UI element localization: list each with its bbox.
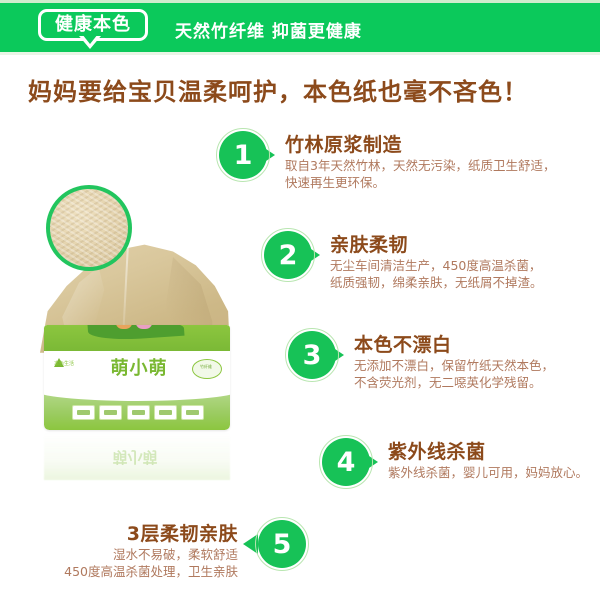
feature-title-1: 竹林原浆制造 bbox=[285, 133, 555, 157]
bubble-circle-1: 1 bbox=[219, 131, 267, 179]
feature-number-4: 4 bbox=[337, 449, 356, 476]
texture-magnifier-icon bbox=[46, 185, 132, 271]
package-icon-1 bbox=[72, 405, 95, 420]
header-underline bbox=[0, 52, 600, 55]
feature-bubble-4: 4 bbox=[322, 438, 370, 486]
page-headline: 妈妈要给宝贝温柔呵护，本色纸也毫不吝色！ bbox=[28, 72, 588, 107]
product-reflection-logo: 萌小萌 bbox=[92, 447, 178, 468]
box-leaf-band bbox=[44, 325, 230, 351]
badge-tail-inner bbox=[82, 34, 98, 44]
package-icon-3 bbox=[127, 405, 150, 420]
feature-bubble-1: 1 bbox=[219, 131, 267, 179]
feature-body-5-line2: 450度高温杀菌处理，卫生亲肤 bbox=[8, 563, 238, 580]
feature-title-2: 亲肤柔韧 bbox=[330, 233, 543, 257]
feature-text-5: 3层柔韧亲肤 湿水不易破，柔软舒适 450度高温杀菌处理，卫生亲肤 bbox=[8, 522, 238, 580]
bubble-circle-5: 5 bbox=[258, 520, 306, 568]
feature-body-1-line2: 快速再生更环保。 bbox=[285, 174, 555, 191]
package-icon-5 bbox=[181, 405, 204, 420]
feature-number-3: 3 bbox=[303, 342, 322, 369]
feature-number-1: 1 bbox=[234, 142, 253, 169]
feature-body-3-line1: 无添加不漂白，保留竹纸天然本色， bbox=[354, 357, 554, 374]
advertisement-page: 健康本色 天然竹纤维 抑菌更健康 妈妈要给宝贝温柔呵护，本色纸也毫不吝色！ 本色… bbox=[0, 0, 600, 604]
feature-body-5-line1: 湿水不易破，柔软舒适 bbox=[8, 546, 238, 563]
feature-body-3-line2: 不含荧光剂，无二噁英化学残留。 bbox=[354, 374, 554, 391]
package-icon-4 bbox=[154, 405, 177, 420]
header-tagline: 天然竹纤维 抑菌更健康 bbox=[175, 17, 362, 42]
feature-text-3: 本色不漂白 无添加不漂白，保留竹纸天然本色， 不含荧光剂，无二噁英化学残留。 bbox=[354, 333, 554, 391]
box-brand-name: 萌小萌 bbox=[111, 358, 168, 379]
feature-text-2: 亲肤柔韧 无尘车间清洁生产，450度高温杀菌， 纸质强韧，绵柔亲肤，无纸屑不掉渣… bbox=[330, 233, 543, 291]
feature-number-2: 2 bbox=[279, 242, 298, 269]
header-badge-label: 健康本色 bbox=[55, 16, 131, 34]
feature-text-1: 竹林原浆制造 取自3年天然竹林，天然无污染，纸质卫生舒适， 快速再生更环保。 bbox=[285, 133, 555, 191]
feature-body-1-line1: 取自3年天然竹林，天然无污染，纸质卫生舒适， bbox=[285, 157, 555, 174]
feature-title-3: 本色不漂白 bbox=[354, 333, 554, 357]
feature-body-2-line1: 无尘车间清洁生产，450度高温杀菌， bbox=[330, 257, 543, 274]
bubble-circle-4: 4 bbox=[322, 438, 370, 486]
box-seal-icon bbox=[192, 359, 222, 379]
brand-mark-text: 本色生活 bbox=[54, 361, 88, 373]
feature-body-2-line2: 纸质强韧，绵柔亲肤，无纸屑不掉渣。 bbox=[330, 274, 543, 291]
feature-bubble-3: 3 bbox=[288, 331, 336, 379]
package-icon-2 bbox=[99, 405, 122, 420]
bubble-circle-2: 2 bbox=[264, 231, 312, 279]
feature-number-5: 5 bbox=[273, 531, 292, 558]
box-seal-text: 竹纤维 bbox=[195, 364, 217, 369]
feature-title-4: 紫外线杀菌 bbox=[388, 440, 588, 464]
product-image: 本色生活 萌小萌 MengXiaoMeng 竹纤维 萌小萌 bbox=[40, 185, 240, 445]
product-box: 本色生活 萌小萌 MengXiaoMeng 竹纤维 bbox=[44, 325, 230, 430]
feature-bubble-5: 5 bbox=[258, 520, 306, 568]
package-feature-icons bbox=[72, 405, 204, 421]
feature-body-4-line1: 紫外线杀菌，婴儿可用，妈妈放心。 bbox=[388, 464, 588, 481]
bubble-circle-3: 3 bbox=[288, 331, 336, 379]
feature-text-4: 紫外线杀菌 紫外线杀菌，婴儿可用，妈妈放心。 bbox=[388, 440, 588, 481]
leaf-icon bbox=[87, 325, 184, 342]
feature-bubble-2: 2 bbox=[264, 231, 312, 279]
feature-title-5: 3层柔韧亲肤 bbox=[8, 522, 238, 546]
